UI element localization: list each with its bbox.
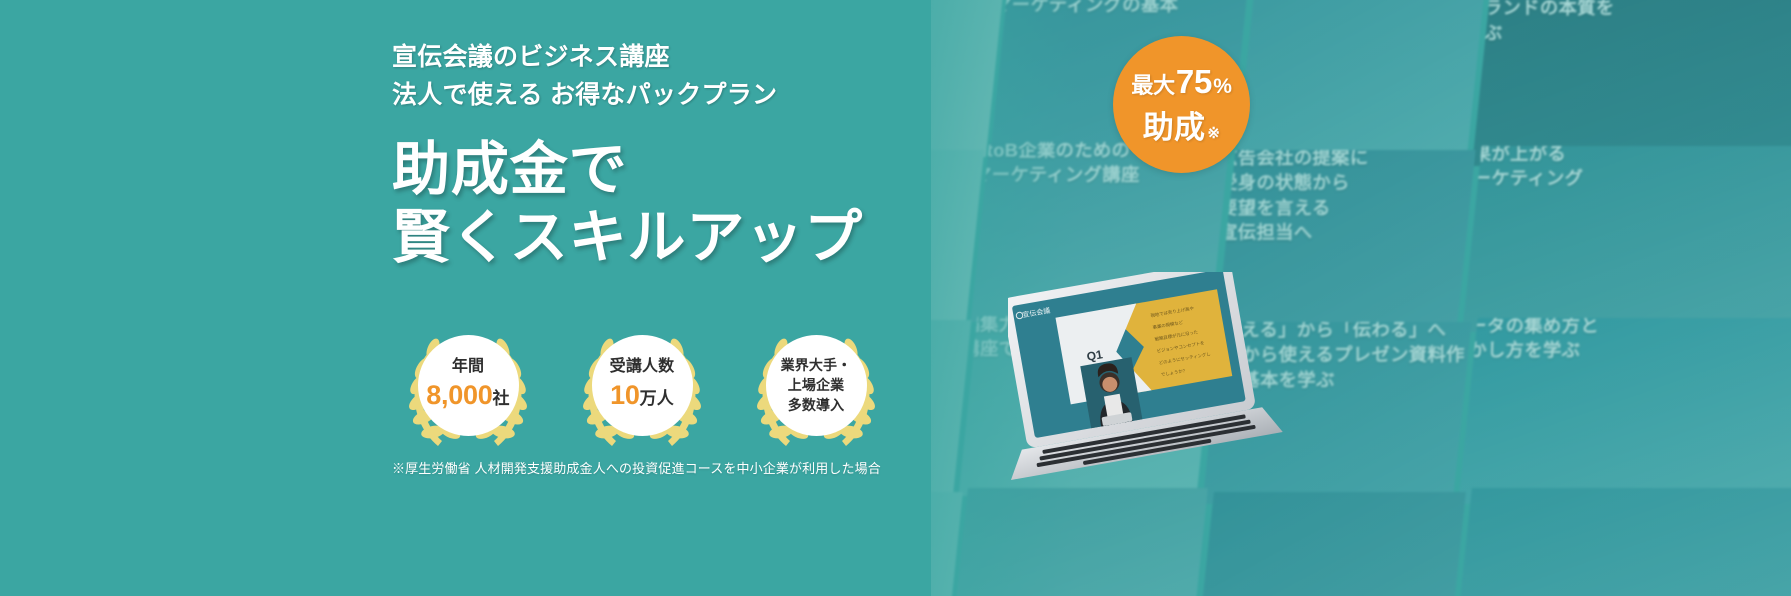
subsidy-footnote: ※厚生労働省 人材開発支援助成金人への投資促進コースを中小企業が利用した場合 — [392, 458, 881, 477]
medallion-value: 8,000 社 — [426, 378, 509, 413]
medallion-lines: 業界大手・ 上場企業 多数導入 — [781, 355, 852, 416]
medallion-disc: 年間 8,000 社 — [418, 335, 519, 436]
medallion-label: 受講人数 — [610, 357, 675, 377]
laptop-mockup: 宣伝会議 Q1 現地では売り上げ高や 事業の規模など 戦略目標が元に沿った ビジ… — [1008, 272, 1338, 487]
page-title: 助成金で 賢くスキルアップ — [392, 136, 1032, 273]
medallion-annual-companies: 年間 8,000 社 — [392, 322, 544, 448]
medallion-attendees: 受講人数 10 万人 — [566, 322, 718, 448]
medallion-value: 10 万人 — [610, 378, 674, 413]
subsidy-badge-prefix: 最大 — [1131, 68, 1175, 100]
subsidy-badge-label: 助成 — [1143, 102, 1206, 147]
hero-banner: データマーケティング 実践講座 宣伝担当者が知っておくべき マーケティングの基本… — [0, 0, 1791, 596]
subsidy-badge-line2: 助成 ※ — [1143, 102, 1221, 147]
medallion-label: 年間 — [452, 357, 484, 377]
subsidy-badge-line1: 最大 75 % — [1131, 63, 1231, 101]
hero-kicker: 宣伝会議のビジネス講座 法人で使える お得なパックプラン — [392, 38, 1032, 114]
medallion-disc: 受講人数 10 万人 — [592, 335, 693, 436]
subsidy-badge-number: 75 — [1176, 63, 1212, 101]
credential-medallions: 年間 8,000 社 — [392, 322, 892, 448]
laptop-slide-marker: Q1 — [1086, 347, 1105, 364]
subsidy-badge: 最大 75 % 助成 ※ — [1113, 36, 1250, 173]
hero-copy: 宣伝会議のビジネス講座 法人で使える お得なパックプラン 助成金で 賢くスキルア… — [392, 38, 1032, 273]
laptop-illustration: 宣伝会議 Q1 現地では売り上げ高や 事業の規模など 戦略目標が元に沿った ビジ… — [1008, 272, 1338, 487]
medallion-value-unit: 万人 — [640, 388, 674, 410]
asterisk-icon: ※ — [1207, 124, 1220, 142]
medallion-value-unit: 社 — [493, 388, 510, 410]
subsidy-badge-percent: % — [1213, 75, 1231, 99]
medallion-value-number: 8,000 — [426, 378, 492, 413]
medallion-value-number: 10 — [610, 378, 640, 413]
medallion-enterprise-clients: 業界大手・ 上場企業 多数導入 — [740, 322, 892, 448]
medallion-disc: 業界大手・ 上場企業 多数導入 — [766, 335, 867, 436]
